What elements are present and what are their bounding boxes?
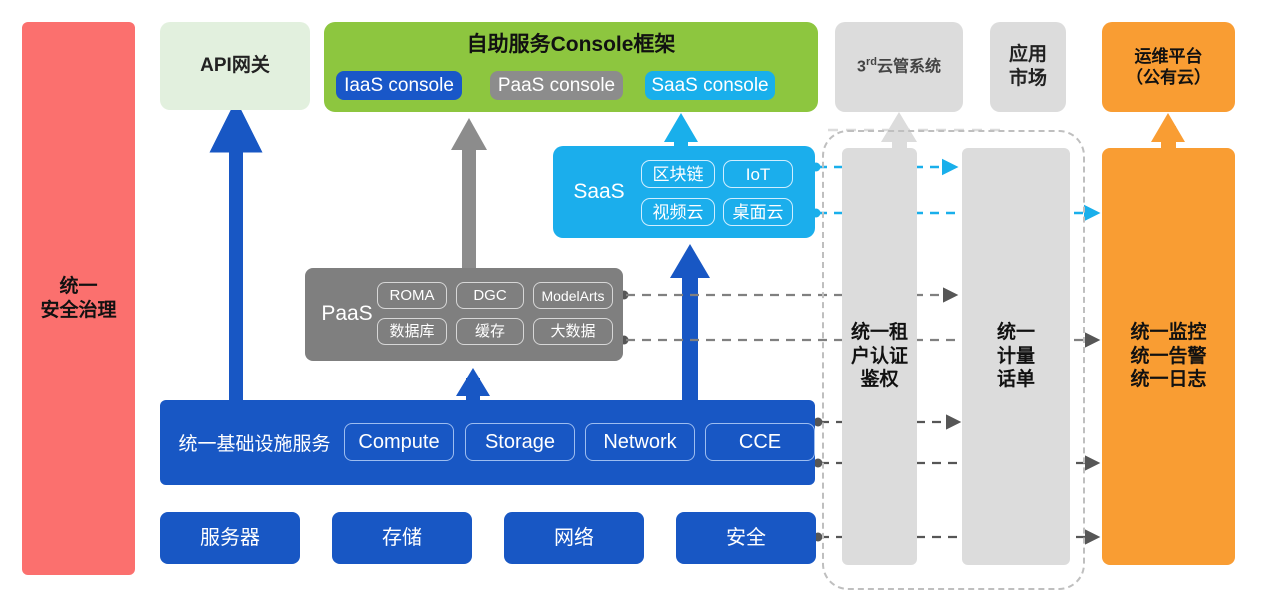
shared-service-metering[interactable]: 统一 计量 话单 [962,148,1070,565]
app-market-box[interactable]: 应用 市场 [990,22,1066,112]
hardware-server[interactable]: 服务器 [160,512,300,564]
saas-console-chip[interactable]: SaaS console [645,71,775,100]
ops-platform-box[interactable]: 运维平台 （公有云） [1102,22,1235,112]
saas-item-video-cloud[interactable]: 视频云 [641,198,715,226]
arrow-iaas-to-paas [456,368,490,402]
arrow-paas-to-console [451,118,487,270]
iaas-item-cce[interactable]: CCE [705,423,815,461]
paas-item-database[interactable]: 数据库 [377,318,447,345]
arrow-iaas-to-apigw [218,112,254,402]
api-gateway-box[interactable]: API网关 [160,22,310,110]
paas-item-modelarts[interactable]: ModelArts [533,282,613,309]
hardware-storage[interactable]: 存储 [332,512,472,564]
hardware-security[interactable]: 安全 [676,512,816,564]
paas-item-dgc[interactable]: DGC [456,282,524,309]
saas-item-iot[interactable]: IoT [723,160,793,188]
third-party-cloud-mgmt-box[interactable]: 3rd云管系统 [835,22,963,112]
arrow-to-ops-platform [1151,113,1185,150]
ops-monitoring-box[interactable]: 统一监控 统一告警 统一日志 [1102,148,1235,565]
paas-console-chip[interactable]: PaaS console [490,71,623,100]
iaas-item-storage[interactable]: Storage [465,423,575,461]
third-party-label: 3rd云管系统 [857,56,941,77]
paas-item-bigdata[interactable]: 大数据 [533,318,613,345]
paas-item-roma[interactable]: ROMA [377,282,447,309]
architecture-diagram: 统一租 户认证 鉴权 统一 计量 话单 统一 安全治理 API网关 自助服务Co… [0,0,1265,605]
hardware-network[interactable]: 网络 [504,512,644,564]
unified-infrastructure-label: 统一基础设施服务 [172,425,337,459]
unified-security-governance[interactable]: 统一 安全治理 [22,22,135,575]
arrow-saas-to-console [664,113,698,150]
iaas-item-network[interactable]: Network [585,423,695,461]
paas-item-cache[interactable]: 缓存 [456,318,524,345]
saas-label: SaaS [563,177,635,207]
shared-service-tenant-auth[interactable]: 统一租 户认证 鉴权 [842,148,917,565]
iaas-item-compute[interactable]: Compute [344,423,454,461]
iaas-console-chip[interactable]: IaaS console [336,71,462,100]
console-framework-title: 自助服务Console框架 [324,27,818,59]
arrow-iaas-to-saas [670,244,710,402]
saas-item-desktop-cloud[interactable]: 桌面云 [723,198,793,226]
saas-item-blockchain[interactable]: 区块链 [641,160,715,188]
third-party-ordinal-sup: rd [866,56,877,68]
paas-label: PaaS [314,299,380,329]
